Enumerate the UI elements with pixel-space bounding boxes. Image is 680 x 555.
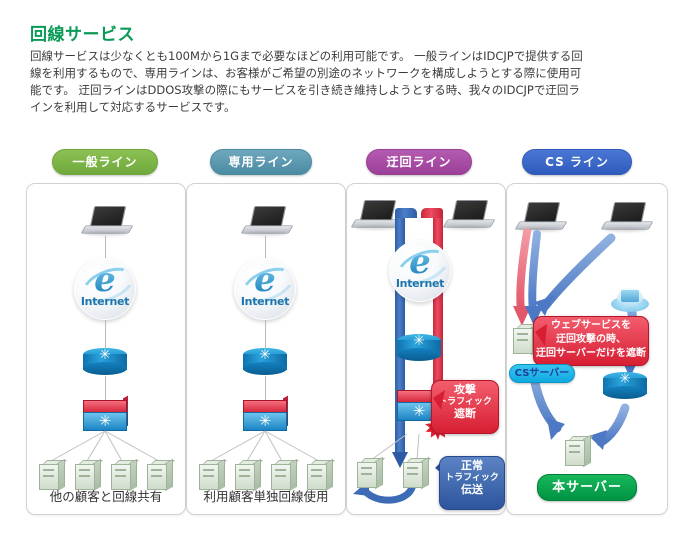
page-title: 回線サービス — [30, 20, 135, 45]
pill-cs-server: CSサーバー — [509, 364, 575, 383]
attack-traffic-pipe — [433, 208, 443, 404]
panel-caption-general: 他の顧客と回線共有 — [27, 486, 185, 505]
panel-dedicated-line: e Internet ✳ 利用顧客単独回線使用 — [186, 183, 346, 515]
laptop-icon — [445, 200, 491, 230]
switch-icon — [243, 400, 287, 430]
badge-general-line[interactable]: 一般ライン — [52, 149, 158, 175]
wire — [265, 236, 266, 258]
column-badges: 一般ライン 専用ライン 迂回ライン CS ライン — [0, 149, 680, 175]
laptop-icon — [517, 202, 563, 232]
callout-attack-traffic-block: 攻撃 トラフィック 遮断 — [431, 380, 499, 434]
laptop-icon — [243, 206, 289, 236]
internet-label: Internet — [234, 295, 296, 308]
internet-label: Internet — [389, 277, 451, 290]
wire — [105, 320, 106, 348]
router-icon: ✳ — [243, 348, 287, 376]
page-root: 回線サービス 回線サービスは少なくとも100Mから1Gまで必要なほどの利用可能で… — [0, 0, 680, 555]
badge-cs-line[interactable]: CS ライン — [522, 149, 632, 175]
main-server-icon — [565, 436, 591, 466]
laptop-icon — [603, 202, 649, 232]
router-icon: ✳ — [603, 372, 647, 400]
wire — [265, 320, 266, 348]
badge-bypass-line[interactable]: 迂回ライン — [366, 149, 472, 175]
laptop-icon — [83, 206, 129, 236]
panel-cs-line: ウェブサービスを 迂回攻撃の時、 迂回サーバーだけを遮断 CSサーバー ✳ 本サ… — [506, 183, 668, 515]
wire — [105, 376, 106, 400]
internet-globe-icon: e Internet — [389, 240, 451, 302]
internet-globe-icon: e Internet — [234, 258, 296, 320]
internet-globe-icon: e Internet — [74, 258, 136, 320]
cloud-shield-icon — [611, 288, 649, 314]
panel-caption-dedicated: 利用顧客単独回線使用 — [187, 486, 345, 505]
attack-traffic-pipe-elbow — [421, 208, 443, 218]
internet-label: Internet — [74, 295, 136, 308]
router-icon: ✳ — [397, 334, 441, 362]
callout-web-service-bypass-block: ウェブサービスを 迂回攻撃の時、 迂回サーバーだけを遮断 — [533, 316, 649, 366]
wire — [265, 376, 266, 400]
badge-dedicated-line[interactable]: 専用ライン — [210, 149, 312, 175]
server-icon — [403, 458, 429, 488]
panel-bypass-line: e Internet ✳ 攻撃 トラフィック 遮断 — [346, 183, 506, 515]
router-icon: ✳ — [83, 348, 127, 376]
wire — [105, 236, 106, 258]
normal-traffic-pipe-elbow — [395, 208, 417, 218]
laptop-icon — [353, 200, 399, 230]
server-icon — [357, 458, 383, 488]
intro-paragraph: 回線サービスは少なくとも100Mから1Gまで必要なほどの利用可能です。 一般ライ… — [30, 48, 590, 116]
panel-general-line: e Internet ✳ 他の顧客と回線共有 — [26, 183, 186, 515]
switch-icon — [83, 400, 127, 430]
pill-main-server: 本サーバー — [537, 474, 637, 501]
callout-normal-traffic-forward: 正常 トラフィック 伝送 — [439, 456, 505, 510]
